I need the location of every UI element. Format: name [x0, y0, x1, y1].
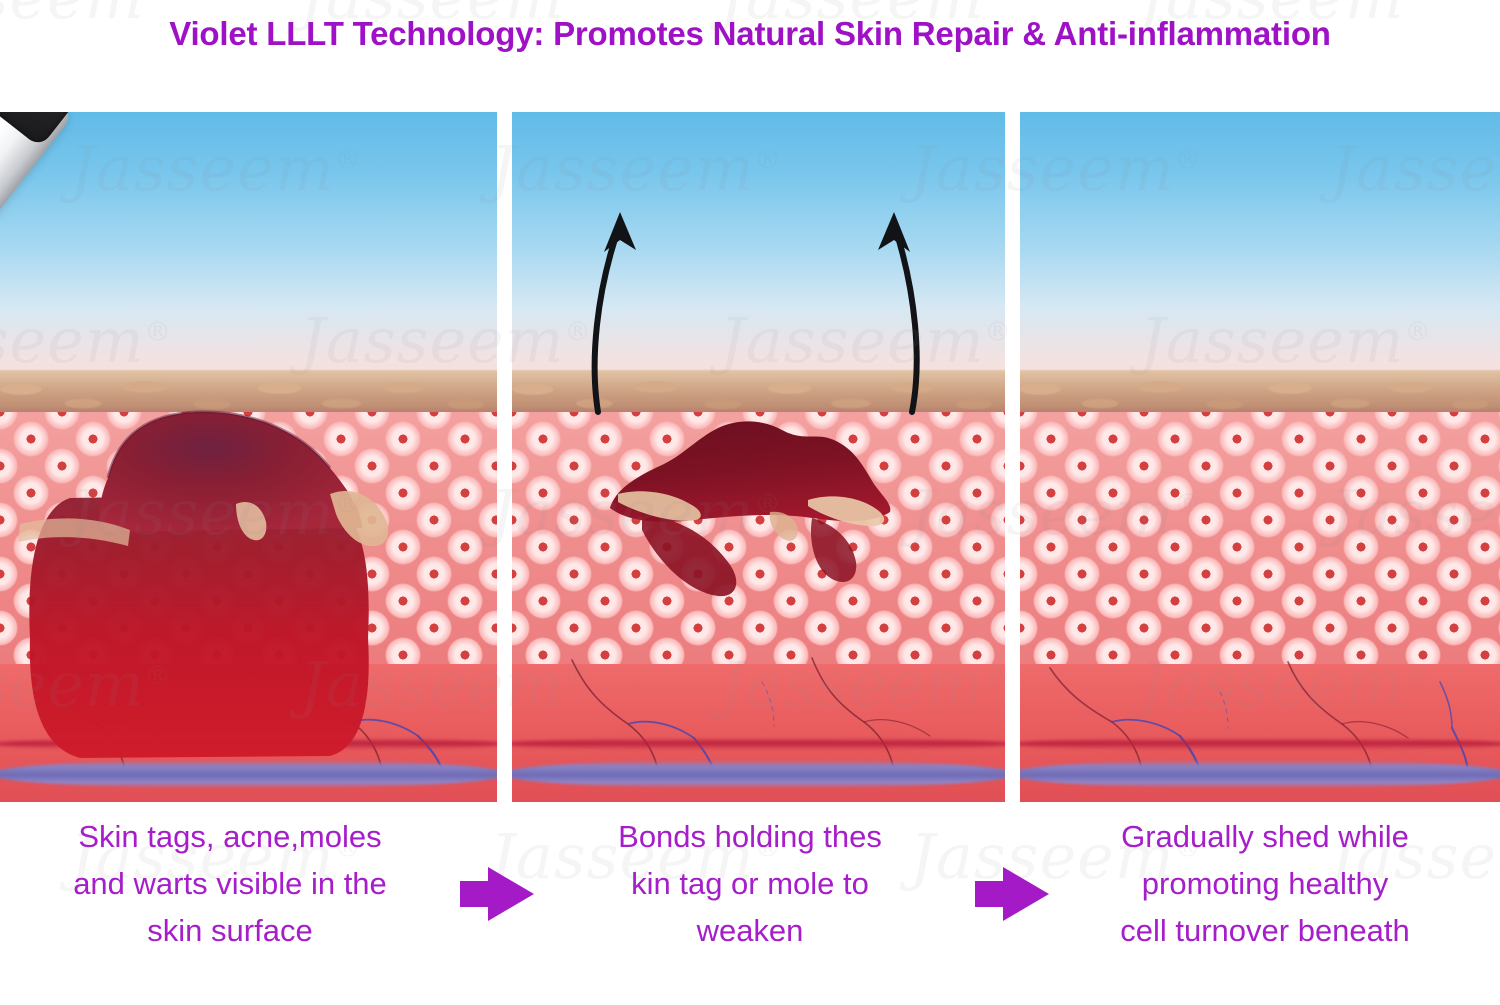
illustration-panels: 9 [0, 112, 1500, 802]
curved-up-arrow-right-head [878, 212, 910, 252]
epidermis-layer [1020, 412, 1500, 670]
caption-line: cell turnover beneath [1045, 907, 1485, 954]
curved-up-arrow-right-shaft [894, 224, 917, 412]
step-arrow-1-icon [460, 863, 540, 925]
caption-line: kin tag or mole to [540, 860, 960, 907]
caption-line: weaken [540, 907, 960, 954]
panel-lesion-visible-on-skin: 9 [0, 112, 497, 802]
lifting-arrows-group [512, 112, 1005, 802]
panel-bonds-weakening [512, 112, 1005, 802]
deep-vessel-red-band [1020, 738, 1500, 750]
caption-line: and warts visible in the [10, 860, 450, 907]
curved-up-arrow-left-shaft [595, 224, 620, 412]
caption-line: skin surface [10, 907, 450, 954]
caption-panel-1: Skin tags, acne,moles and warts visible … [10, 813, 450, 954]
caption-row: Skin tags, acne,moles and warts visible … [0, 805, 1500, 1005]
caption-panel-2: Bonds holding thes kin tag or mole to we… [540, 813, 960, 954]
pigmented-lesion-with-root [0, 308, 497, 802]
stratum-corneum-layer [1020, 370, 1500, 418]
curved-up-arrow-left-head [604, 212, 636, 252]
caption-line: Gradually shed while [1045, 813, 1485, 860]
caption-line: promoting healthy [1045, 860, 1485, 907]
caption-line: Skin tags, acne,moles [10, 813, 450, 860]
page-title: Violet LLLT Technology: Promotes Natural… [0, 14, 1500, 54]
skin-cell-grid-offset [1020, 412, 1500, 670]
step-arrow-2-icon [975, 863, 1055, 925]
sky-background [1020, 112, 1500, 392]
caption-panel-3: Gradually shed while promoting healthy c… [1045, 813, 1485, 954]
deep-vessel-blue-band [1020, 760, 1500, 788]
panel-healthy-skin-restored [1020, 112, 1500, 802]
caption-line: Bonds holding thes [540, 813, 960, 860]
capillary-network [1020, 652, 1500, 772]
